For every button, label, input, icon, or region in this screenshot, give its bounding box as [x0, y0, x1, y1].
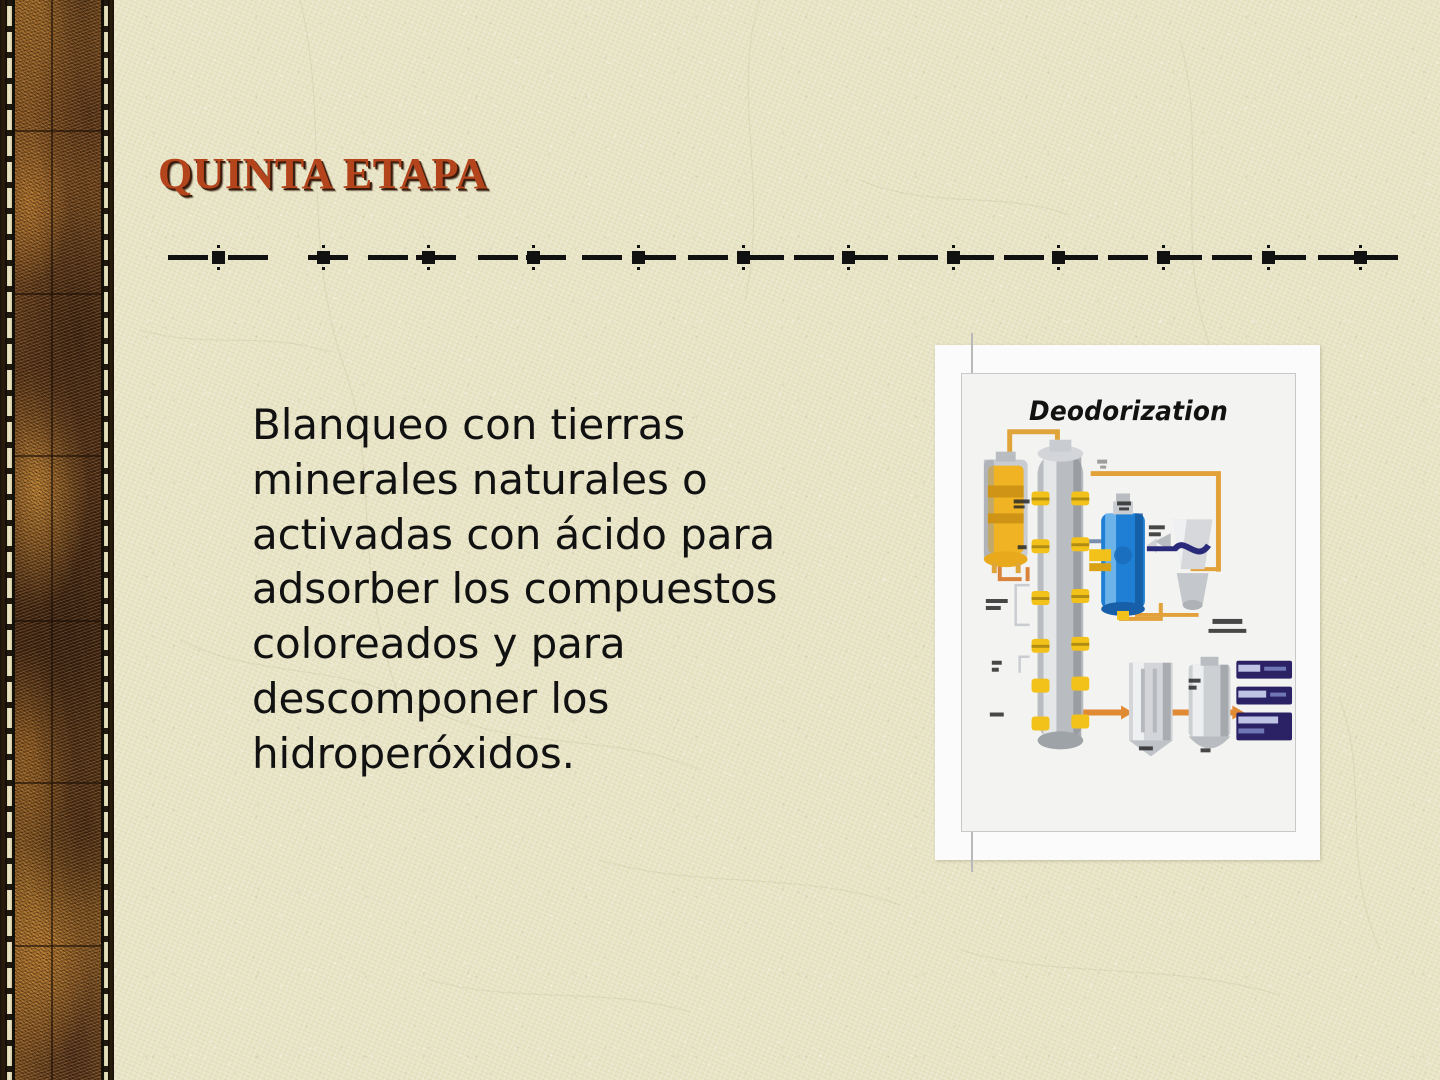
left-decorative-border: [0, 0, 114, 1080]
slide: QUINTA ETAPA: [0, 0, 1440, 1080]
feed-vessel: [984, 452, 1028, 573]
border-horizontal-mortar-line: [15, 293, 101, 295]
slide-body-text: Blanqueo con tierras minerales naturales…: [252, 398, 892, 782]
border-horizontal-mortar-line: [15, 620, 101, 622]
border-horizontal-mortar-line: [15, 782, 101, 784]
border-horizontal-mortar-line: [15, 455, 101, 457]
figure-deodorization: Deodorization: [935, 345, 1320, 860]
bottom-receiver-vessel: [1189, 657, 1231, 749]
border-outer-dark-edge-right: [108, 0, 114, 1080]
border-horizontal-mortar-line: [15, 130, 101, 132]
title-divider: [168, 244, 1398, 270]
border-marble-grain-overlay: [15, 0, 101, 1080]
border-vertical-mortar-line: [51, 0, 53, 1080]
deodorization-flow-diagram: [962, 374, 1295, 831]
border-marble-panel: [15, 0, 101, 1080]
diagram-brackets: [1016, 585, 1030, 673]
figure-image: Deodorization: [961, 373, 1296, 832]
bottom-filter-vessel: [1129, 663, 1173, 757]
deodorizer-column: [1032, 440, 1090, 750]
diagram-label-boxes: [1236, 661, 1292, 741]
heat-exchanger: [1089, 549, 1111, 571]
slide-title: QUINTA ETAPA: [158, 148, 488, 199]
border-horizontal-mortar-line: [15, 945, 101, 947]
